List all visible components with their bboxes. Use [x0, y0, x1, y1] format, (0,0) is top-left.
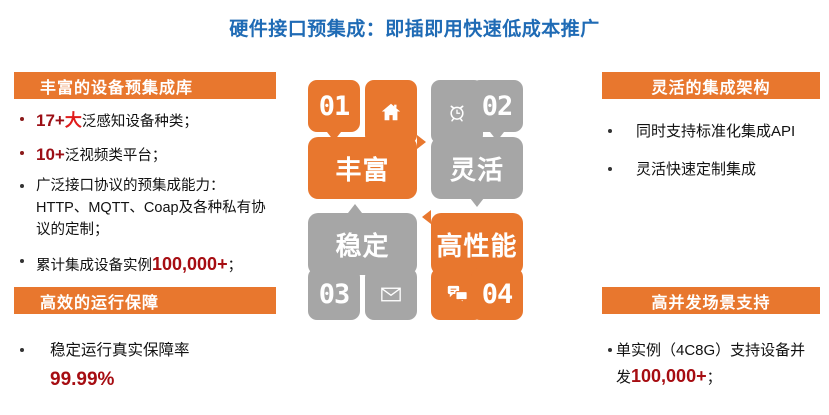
quadrant-03-label: 稳定	[308, 213, 417, 275]
panel-top-left-bullets: 17+大泛感知设备种类； 10+泛视频类平台； 广泛接口协议的预集成能力：HTT…	[14, 109, 274, 277]
panel-bottom-left: 高效的运行保障 稳定运行真实保障率 99.99%	[14, 287, 274, 403]
panel-top-left-heading: 丰富的设备预集成库	[14, 72, 276, 99]
list-item: 单实例（4C8G）支持设备并发100,000+；	[602, 340, 820, 390]
quadrant-04-number: 04	[471, 268, 523, 320]
stat-value: 99.99%	[50, 366, 274, 394]
bullet-number-emphasis: 100,000+	[631, 366, 707, 386]
panel-bottom-left-heading: 高效的运行保障	[14, 287, 276, 314]
panel-bottom-right: 高并发场景支持 单实例（4C8G）支持设备并发100,000+；	[602, 287, 820, 399]
bullet-text: 广泛接口协议的预集成能力：HTTP、MQTT、Coap及各种私有协议的定制；	[36, 178, 266, 238]
quadrant-01-label: 丰富	[308, 137, 417, 199]
panel-top-right-bullets: 同时支持标准化集成API 灵活快速定制集成	[602, 121, 820, 181]
panel-bottom-right-bullets: 单实例（4C8G）支持设备并发100,000+；	[602, 340, 820, 390]
quadrant-01-number: 01	[308, 80, 360, 132]
bullet-text: 同时支持标准化集成API	[636, 123, 795, 140]
home-icon	[365, 80, 417, 144]
bullet-number: 17+	[36, 111, 65, 130]
bullet-number-emphasis: 100,000+	[152, 254, 228, 274]
list-item: 稳定运行真实保障率 99.99%	[14, 340, 274, 394]
list-item: 10+泛视频类平台；	[14, 143, 274, 168]
page-title: 硬件接口预集成：即插即用快速低成本推广	[0, 14, 829, 41]
quadrant-02-label: 灵活	[431, 137, 523, 199]
panel-top-right: 灵活的集成架构 同时支持标准化集成API 灵活快速定制集成	[602, 72, 820, 190]
bullet-text: 累计集成设备实例	[36, 258, 152, 274]
quadrant-02-number: 02	[471, 80, 523, 132]
bullet-suffix: ；	[228, 258, 243, 274]
panel-top-left: 丰富的设备预集成库 17+大泛感知设备种类； 10+泛视频类平台； 广泛接口协议…	[14, 72, 274, 286]
panel-bottom-right-heading: 高并发场景支持	[602, 287, 820, 314]
bullet-suffix: ；	[707, 369, 722, 386]
quadrant-02-tail	[470, 198, 484, 207]
panel-bottom-left-bullets: 稳定运行真实保障率 99.99%	[14, 340, 274, 394]
panel-top-right-heading: 灵活的集成架构	[602, 72, 820, 99]
quadrant-03-number: 03	[308, 268, 360, 320]
four-quadrant-diagram: 01 丰富 02 灵活 稳定 03	[300, 80, 530, 320]
envelope-icon	[365, 268, 417, 320]
list-item: 累计集成设备实例100,000+；	[14, 251, 274, 277]
quadrant-03-tail	[348, 204, 362, 213]
list-item: 同时支持标准化集成API	[602, 121, 820, 143]
list-item: 17+大泛感知设备种类；	[14, 109, 274, 134]
list-item: 广泛接口协议的预集成能力：HTTP、MQTT、Coap及各种私有协议的定制；	[14, 176, 274, 241]
bullet-number: 10+	[36, 145, 65, 164]
bullet-text: 灵活快速定制集成	[636, 161, 756, 178]
quadrant-01-tail	[417, 135, 426, 149]
bullet-text: 泛视频类平台；	[65, 148, 167, 164]
bullet-text: 稳定运行真实保障率	[50, 342, 190, 359]
quadrant-04-tail	[422, 210, 431, 224]
bullet-text: 泛感知设备种类；	[82, 114, 198, 130]
list-item: 灵活快速定制集成	[602, 159, 820, 181]
quadrant-04-label: 高性能	[431, 213, 523, 275]
bullet-number-emphasis: 大	[65, 111, 82, 130]
